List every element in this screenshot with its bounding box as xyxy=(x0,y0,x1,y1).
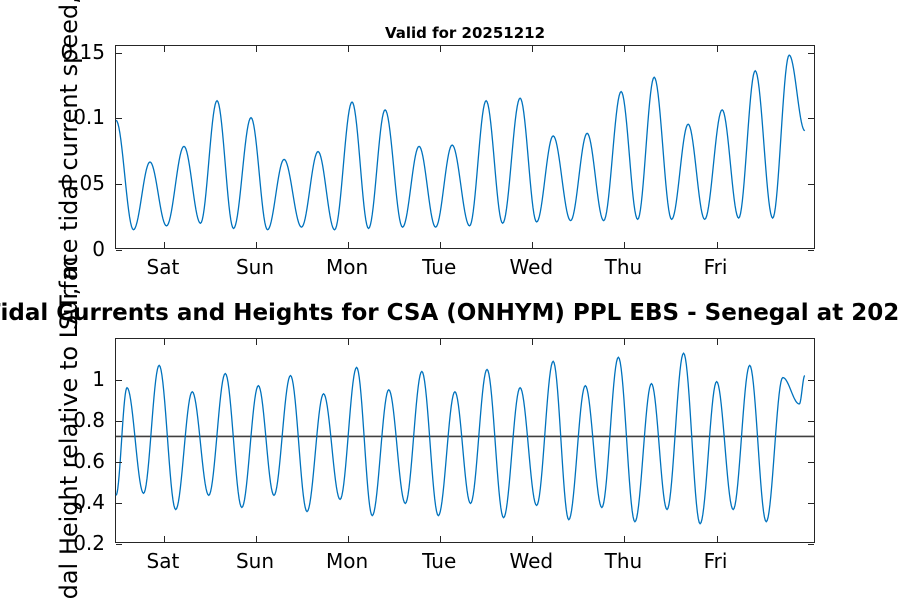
tidal-figure: Valid for 20251212 Surface tidal current… xyxy=(0,0,900,600)
x-tick-mark xyxy=(440,46,441,52)
current-speed-line-chart xyxy=(116,46,814,248)
y-tick-mark xyxy=(808,503,814,504)
x-tick-mark xyxy=(348,536,349,542)
tidal-height-line-chart xyxy=(116,339,814,542)
x-tick-mark xyxy=(164,339,165,345)
x-tick-label-sun: Sun xyxy=(236,549,274,573)
y-tick-label: 0.6 xyxy=(5,449,105,473)
current-panel-subtitle: Valid for 20251212 xyxy=(115,24,815,42)
y-tick-mark xyxy=(808,118,814,119)
page-title: Tidal Currents and Heights for CSA (ONHY… xyxy=(0,300,900,326)
y-tick-mark xyxy=(808,544,814,545)
x-tick-label-tue: Tue xyxy=(422,255,456,279)
x-tick-label-sat: Sat xyxy=(146,549,179,573)
y-tick-mark xyxy=(808,184,814,185)
x-tick-mark xyxy=(256,46,257,52)
x-tick-mark xyxy=(348,339,349,345)
x-tick-label-sun: Sun xyxy=(236,255,274,279)
x-tick-mark xyxy=(717,339,718,345)
y-tick-mark xyxy=(808,250,814,251)
x-tick-label-wed: Wed xyxy=(510,255,554,279)
x-tick-label-mon: Mon xyxy=(326,255,368,279)
x-tick-mark xyxy=(164,46,165,52)
x-tick-mark xyxy=(532,339,533,345)
current-panel-axes xyxy=(115,45,815,249)
y-tick-label: 0.15 xyxy=(5,40,105,64)
y-tick-mark xyxy=(116,503,122,504)
x-tick-label-wed: Wed xyxy=(510,549,554,573)
x-tick-mark xyxy=(532,536,533,542)
x-tick-mark xyxy=(256,536,257,542)
x-tick-label-mon: Mon xyxy=(326,549,368,573)
x-tick-label-thu: Thu xyxy=(605,255,643,279)
x-tick-mark xyxy=(440,339,441,345)
x-tick-mark xyxy=(348,46,349,52)
x-tick-label-thu: Thu xyxy=(605,549,643,573)
x-tick-mark xyxy=(624,536,625,542)
x-tick-mark xyxy=(164,242,165,248)
y-tick-label: 0.05 xyxy=(5,171,105,195)
x-tick-mark xyxy=(717,46,718,52)
x-tick-mark xyxy=(624,46,625,52)
y-tick-label: 0.2 xyxy=(5,531,105,555)
x-tick-mark xyxy=(717,536,718,542)
y-tick-mark xyxy=(808,421,814,422)
x-tick-label-sat: Sat xyxy=(146,255,179,279)
x-tick-mark xyxy=(440,242,441,248)
x-tick-mark xyxy=(164,536,165,542)
x-tick-label-fri: Fri xyxy=(704,549,728,573)
y-tick-mark xyxy=(116,184,122,185)
y-tick-mark xyxy=(116,118,122,119)
y-tick-mark xyxy=(808,53,814,54)
x-tick-mark xyxy=(532,242,533,248)
y-tick-mark xyxy=(116,421,122,422)
y-tick-mark xyxy=(116,462,122,463)
y-tick-mark xyxy=(116,53,122,54)
x-tick-mark xyxy=(532,46,533,52)
series-line-0 xyxy=(116,353,805,524)
x-tick-mark xyxy=(624,339,625,345)
height-panel-axes xyxy=(115,338,815,543)
y-tick-mark xyxy=(808,462,814,463)
y-tick-mark xyxy=(116,380,122,381)
x-tick-mark xyxy=(348,242,349,248)
y-tick-mark xyxy=(116,250,122,251)
y-tick-label: 0.8 xyxy=(5,408,105,432)
y-tick-label: 0.4 xyxy=(5,490,105,514)
y-tick-label: 0 xyxy=(5,237,105,261)
y-tick-mark xyxy=(808,380,814,381)
y-tick-label: 1 xyxy=(5,367,105,391)
x-tick-mark xyxy=(624,242,625,248)
x-tick-mark xyxy=(256,242,257,248)
y-tick-label: 0.1 xyxy=(5,105,105,129)
x-tick-mark xyxy=(256,339,257,345)
x-tick-label-tue: Tue xyxy=(422,549,456,573)
series-line-0 xyxy=(116,55,805,230)
x-tick-mark xyxy=(440,536,441,542)
x-tick-mark xyxy=(717,242,718,248)
x-tick-label-fri: Fri xyxy=(704,255,728,279)
y-tick-mark xyxy=(116,544,122,545)
